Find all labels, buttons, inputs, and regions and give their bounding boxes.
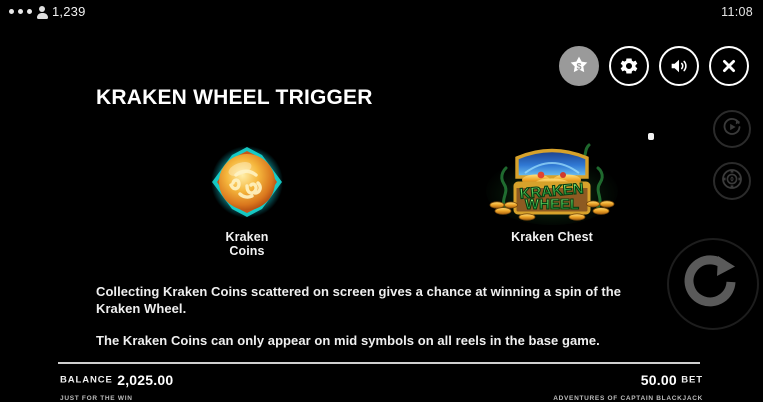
bet-label: BET — [681, 374, 703, 385]
star-dollar-icon: $ — [567, 54, 591, 78]
close-button[interactable] — [709, 46, 749, 86]
user-count-label: 1,239 — [52, 4, 86, 19]
dot — [27, 9, 32, 14]
description-block: Collecting Kraken Coins scattered on scr… — [96, 284, 658, 350]
game-title-label: ADVENTURES OF CAPTAIN BLACKJACK — [553, 395, 703, 402]
balance-value: 2,025.00 — [117, 372, 173, 388]
speaker-icon — [668, 55, 690, 77]
user-count-indicator: 1,239 — [36, 4, 86, 19]
symbol-label-kraken-chest: Kraken Chest — [462, 230, 642, 244]
balance-label: BALANCE — [60, 374, 113, 385]
footer-divider — [58, 362, 700, 364]
chest-art-text-line2: WHEEL — [525, 196, 579, 213]
symbol-kraken-coins: Kraken Coins — [192, 138, 302, 258]
autoplay-icon — [721, 116, 743, 143]
bet-value: 50.00 — [641, 372, 677, 388]
svg-text:$: $ — [576, 62, 581, 72]
spin-arrow-icon — [682, 251, 744, 318]
dot — [9, 9, 14, 14]
bet-panel[interactable]: 50.00 BET ADVENTURES OF CAPTAIN BLACKJAC… — [553, 371, 703, 402]
paragraph-1: Collecting Kraken Coins scattered on scr… — [96, 284, 658, 317]
page-title: KRAKEN WHEEL TRIGGER — [96, 86, 676, 110]
status-bar: 1,239 11:08 — [0, 0, 763, 26]
bonus-buy-button[interactable]: $ — [559, 46, 599, 86]
paragraph-2: The Kraken Coins can only appear on mid … — [96, 333, 658, 350]
symbol-row: Kraken Coins — [96, 138, 686, 270]
close-x-icon — [719, 56, 739, 76]
chip-settings-icon — [720, 167, 744, 196]
game-screen: 1,239 11:08 $ — [0, 0, 763, 400]
kraken-coin-icon — [192, 138, 302, 226]
settings-button[interactable] — [609, 46, 649, 86]
dot — [18, 9, 23, 14]
content-area: KRAKEN WHEEL TRIGGER — [96, 86, 676, 110]
clock-label: 11:08 — [721, 5, 753, 19]
label-line: Coins — [192, 244, 302, 258]
sound-button[interactable] — [659, 46, 699, 86]
autoplay-button[interactable] — [713, 110, 751, 148]
label-line: Kraken — [192, 230, 302, 244]
kraken-chest-icon: KRAKEN WHEEL — [462, 138, 642, 226]
bet-settings-button[interactable] — [713, 162, 751, 200]
gear-icon — [618, 55, 640, 77]
symbol-label-kraken-coins: Kraken Coins — [192, 230, 302, 258]
label-line: Kraken Chest — [462, 230, 642, 244]
top-controls: $ — [559, 46, 749, 86]
person-icon — [36, 5, 48, 19]
three-dots-icon[interactable] — [9, 9, 32, 14]
symbol-kraken-chest: KRAKEN WHEEL Kraken Chest — [462, 138, 642, 244]
balance-panel: BALANCE 2,025.00 JUST FOR THE WIN — [60, 371, 173, 402]
provider-label: JUST FOR THE WIN — [60, 395, 173, 402]
